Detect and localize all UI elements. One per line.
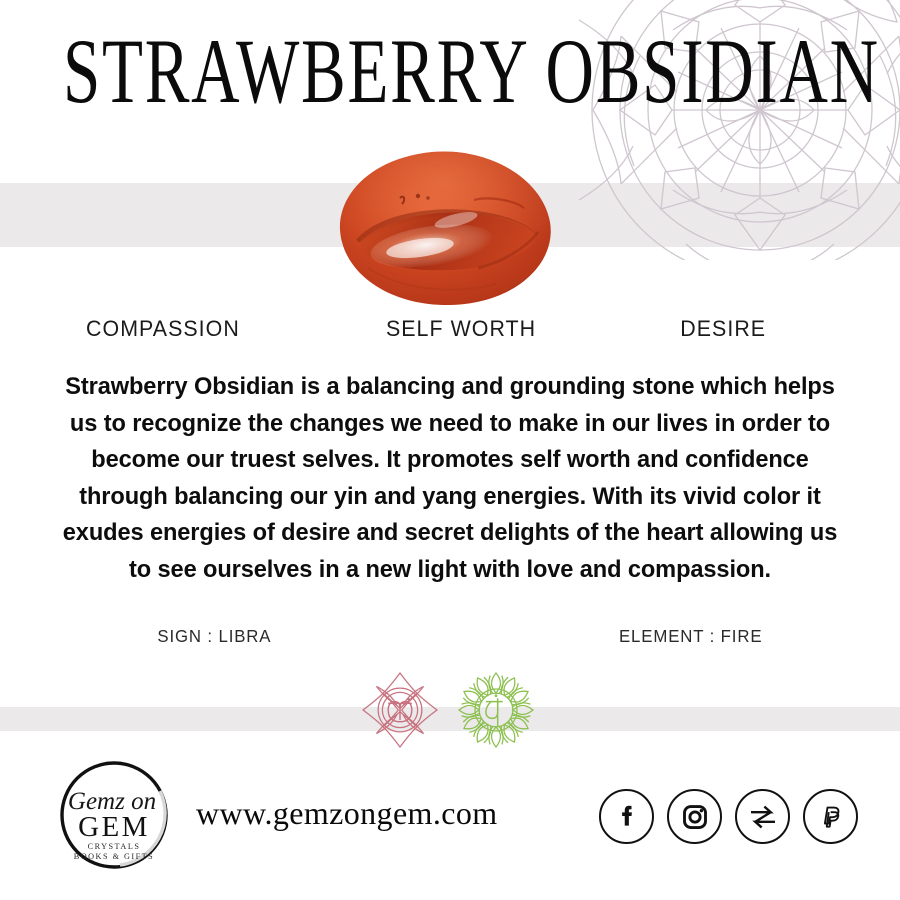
description-text: Strawberry Obsidian is a balancing and g… (58, 369, 842, 589)
double-arrow-icon (746, 800, 780, 834)
chakra-row (348, 668, 548, 752)
attributes-row: SIGN : LIBRA ELEMENT : FIRE (155, 626, 765, 647)
keyword-row: COMPASSION SELF WORTH DESIRE (60, 316, 840, 342)
gemstone-info-card: STRAWBERRY OBSIDIAN (0, 0, 900, 900)
gemstone-image (328, 148, 562, 308)
keyword-compassion: COMPASSION (86, 316, 240, 342)
paypal-link[interactable] (803, 789, 858, 844)
logo-main-text: GEM (78, 811, 150, 843)
facebook-link[interactable] (599, 789, 654, 844)
zodiac-sign: SIGN : LIBRA (157, 626, 271, 647)
logo-tagline-1: CRYSTALS (88, 842, 141, 851)
instagram-icon (680, 802, 710, 832)
page-title: STRAWBERRY OBSIDIAN (63, 21, 837, 122)
instagram-link[interactable] (667, 789, 722, 844)
keyword-self-worth: SELF WORTH (386, 316, 536, 342)
heart-chakra-icon (454, 668, 538, 752)
social-links (599, 789, 858, 844)
keyword-desire: DESIRE (680, 316, 766, 342)
website-url[interactable]: www.gemzongem.com (196, 795, 498, 832)
logo-tagline-2: BOOKS & GIFTS (74, 852, 154, 861)
element: ELEMENT : FIRE (619, 626, 762, 647)
facebook-icon (612, 802, 642, 832)
paypal-icon (816, 802, 846, 832)
sacral-chakra-icon (358, 668, 442, 752)
poshmark-link[interactable] (735, 789, 790, 844)
brand-logo[interactable]: Gemz on GEM CRYSTALS BOOKS & GIFTS (50, 757, 178, 875)
